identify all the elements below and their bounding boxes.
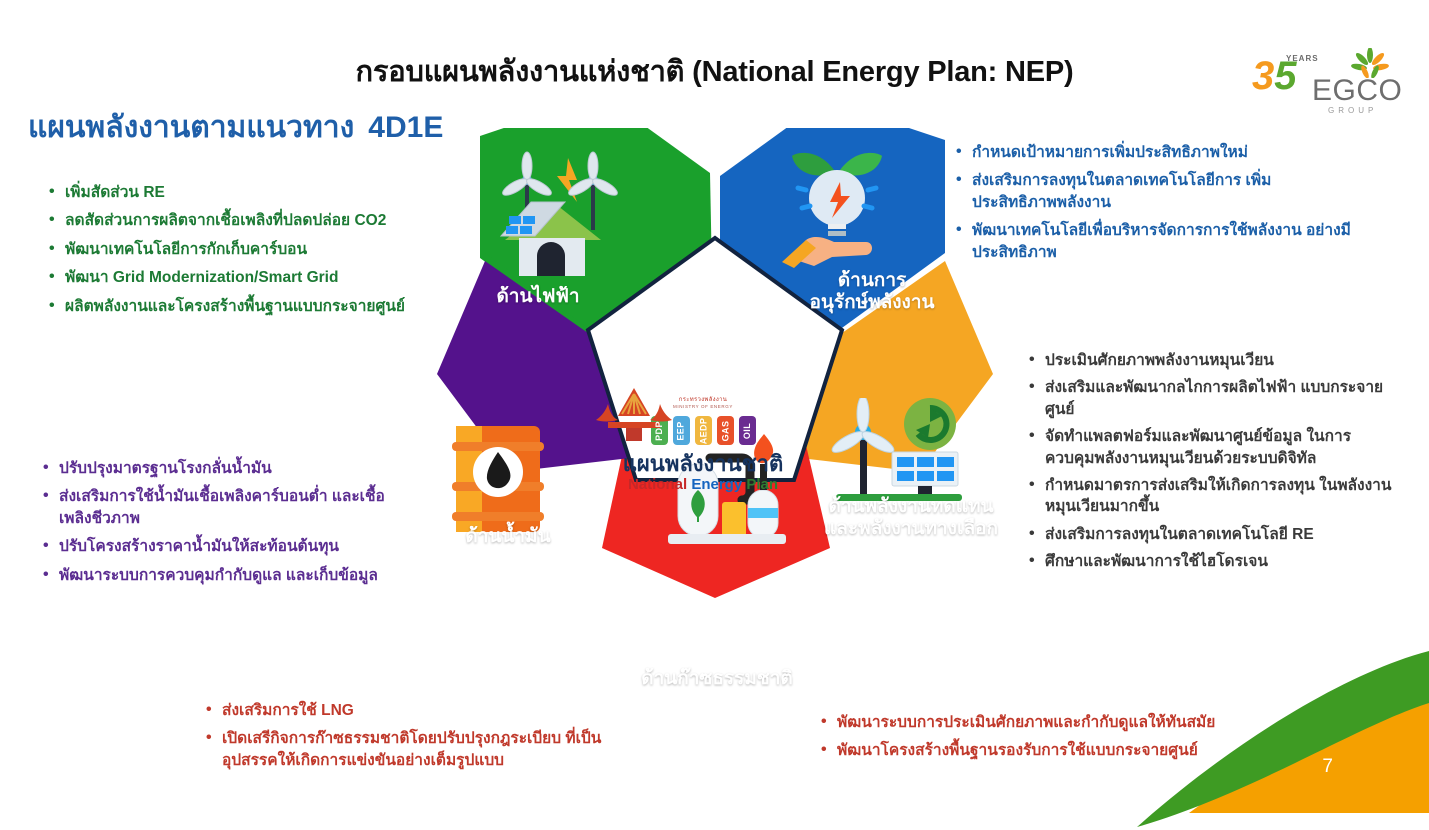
plan-tab-aedp[interactable]: AEDP [695, 416, 712, 445]
wind-solar-recycle-icon [818, 398, 978, 518]
list-item: เพิ่มสัดส่วน RE [48, 182, 488, 203]
bullet-list: ปรับปรุงมาตรฐานโรงกลั่นน้ำมัน ส่งเสริมกา… [42, 458, 397, 586]
list-item: พัฒนาเทคโนโลยีเพื่อบริหารจัดการการใช้พลั… [955, 220, 1355, 263]
subtitle-text: แผนพลังงานตามแนวทาง [28, 111, 354, 144]
list-item: เปิดเสรีกิจการก๊าซธรรมชาติโดยปรับปรุงกฎร… [205, 728, 635, 771]
list-item: จัดทำแพลตฟอร์มและพัฒนาศูนย์ข้อมูล ในการค… [1028, 426, 1398, 469]
nep-title-en-part2: Energy [691, 476, 746, 493]
page-title: กรอบแผนพลังงานแห่งชาติ (National Energy … [0, 48, 1429, 94]
oil-barrel-drop-icon [438, 416, 558, 548]
nep-title-en-part3: Plan [746, 476, 778, 493]
bullets-gas-left: ส่งเสริมการใช้ LNG เปิดเสรีกิจการก๊าซธรร… [205, 700, 635, 778]
plan-tab-label: PDP [654, 421, 664, 441]
logo-group-text: GROUP [1328, 106, 1377, 115]
bullets-oil: ปรับปรุงมาตรฐานโรงกลั่นน้ำมัน ส่งเสริมกา… [42, 458, 397, 593]
list-item: ส่งเสริมการใช้น้ำมันเชื้อเพลิงคาร์บอนต่ำ… [42, 486, 397, 529]
bullets-electricity: เพิ่มสัดส่วน RE ลดสัดส่วนการผลิตจากเชื้อ… [48, 182, 488, 324]
logo-brand-text: EGCO [1312, 74, 1402, 108]
list-item: ส่งเสริมการลงทุนในตลาดเทคโนโลยี RE [1028, 524, 1398, 545]
bullets-efficiency: กำหนดเป้าหมายการเพิ่มประสิทธิภาพใหม่ ส่ง… [955, 142, 1355, 270]
plan-tab-oil[interactable]: OIL [739, 416, 756, 445]
nep-title-en-part1: National [628, 476, 691, 493]
plan-tab-label: GAS [720, 420, 730, 441]
hand-bulb-leaf-icon [762, 136, 912, 276]
bullet-list: เพิ่มสัดส่วน RE ลดสัดส่วนการผลิตจากเชื้อ… [48, 182, 488, 317]
plan-tab-gas[interactable]: GAS [717, 416, 734, 445]
plan-tab-label: AEDP [698, 417, 708, 444]
list-item: พัฒนาเทคโนโลยีการกักเก็บคาร์บอน [48, 239, 488, 260]
plan-tab-label: EEP [676, 421, 686, 440]
list-item: ส่งเสริมการใช้ LNG [205, 700, 635, 721]
page-number: 7 [1322, 756, 1333, 778]
bullet-list: ส่งเสริมการใช้ LNG เปิดเสรีกิจการก๊าซธรร… [205, 700, 635, 771]
list-item: ปรับโครงสร้างราคาน้ำมันให้สะท้อนต้นทุน [42, 536, 397, 557]
corner-swoosh-decoration [1129, 645, 1429, 830]
bullet-list: กำหนดเป้าหมายการเพิ่มประสิทธิภาพใหม่ ส่ง… [955, 142, 1355, 263]
list-item: พัฒนาระบบการควบคุมกำกับดูแล และเก็บข้อมู… [42, 565, 397, 586]
list-item: ผลิตพลังงานและโครงสร้างพื้นฐานแบบกระจายศ… [48, 296, 488, 317]
list-item: ประเมินศักยภาพพลังงานหมุนเวียน [1028, 350, 1398, 371]
list-item: กำหนดเป้าหมายการเพิ่มประสิทธิภาพใหม่ [955, 142, 1355, 163]
bullet-list: ประเมินศักยภาพพลังงานหมุนเวียน ส่งเสริมแ… [1028, 350, 1398, 572]
list-item: ส่งเสริมและพัฒนากลไกการผลิตไฟฟ้า แบบกระจ… [1028, 377, 1398, 420]
nep-title-th: แผนพลังงานชาติ [623, 453, 784, 475]
egco-logo: 35 YEARS EGCO GROUP [1252, 48, 1402, 120]
list-item: กำหนดมาตรการส่งเสริมให้เกิดการลงทุน ในพล… [1028, 475, 1398, 518]
list-item: ศึกษาและพัฒนาการใช้ไฮโดรเจน [1028, 551, 1398, 572]
thai-ministry-crest-icon [578, 386, 690, 442]
plan-tab-label: OIL [742, 422, 752, 438]
list-item: ปรับปรุงมาตรฐานโรงกลั่นน้ำมัน [42, 458, 397, 479]
nep-title-en: National Energy Plan [628, 477, 778, 492]
list-item: พัฒนา Grid Modernization/Smart Grid [48, 267, 488, 288]
list-item: ลดสัดส่วนการผลิตจากเชื้อเพลิงที่ปลดปล่อย… [48, 210, 488, 231]
solar-house-wind-icon [473, 140, 633, 280]
list-item: ส่งเสริมการลงทุนในตลาดเทคโนโลยีการ เพิ่ม… [955, 170, 1355, 213]
national-energy-plan-logo: กระทรวงพลังงาน MINISTRY OF ENERGY PDP EE… [578, 386, 828, 576]
bullets-renewable: ประเมินศักยภาพพลังงานหมุนเวียน ส่งเสริมแ… [1028, 350, 1398, 578]
logo-years-label: YEARS [1286, 54, 1319, 63]
